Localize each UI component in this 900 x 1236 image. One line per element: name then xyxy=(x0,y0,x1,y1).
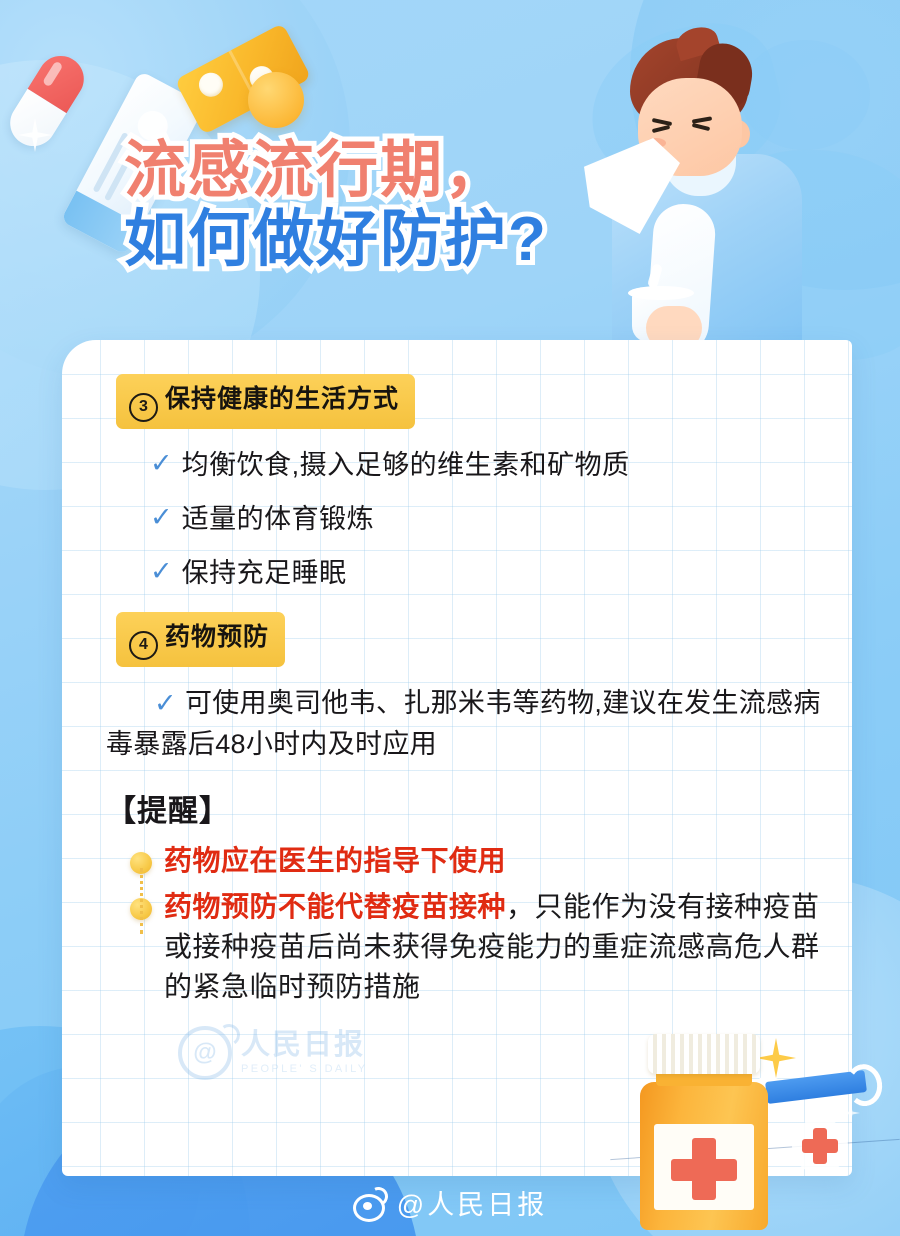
tip-item-text: 药物预防不能代替疫苗接种，只能作为没有接种疫苗或接种疫苗后尚未获得免疫能力的重症… xyxy=(164,888,822,1007)
check-icon: ✓ xyxy=(150,557,173,587)
list-item: ✓ 适量的体育锻炼 xyxy=(150,503,822,537)
orange-circle-decoration xyxy=(248,72,304,128)
poster-canvas: 流感流行期， 如何做好防护? 3保持健康的生活方式 ✓ 均衡饮食,摄入足够的维生… xyxy=(0,0,900,1236)
section-title-3: 保持健康的生活方式 xyxy=(165,385,399,413)
section-4-paragraph-text: 可使用奥司他韦、扎那米韦等药物,建议在发生流感病毒暴露后48小时内及时应用 xyxy=(106,688,821,759)
list-item-label: 均衡饮食,摄入足够的维生素和矿物质 xyxy=(182,449,630,483)
red-cross-badge-icon xyxy=(792,1118,848,1174)
list-item-label: 保持充足睡眠 xyxy=(182,557,347,591)
at-symbol-icon: @ xyxy=(178,1026,232,1080)
list-item: ✓ 保持充足睡眠 xyxy=(150,557,822,591)
tip-item: 药物应在医生的指导下使用 xyxy=(106,842,822,882)
watermark-name-cn: 人民日报 xyxy=(241,1031,368,1060)
weibo-icon xyxy=(353,1188,387,1218)
at-glyph: @ xyxy=(193,1039,216,1067)
tip-item-text: 药物应在医生的指导下使用 xyxy=(164,842,506,882)
title-line-1: 流感流行期， xyxy=(124,136,548,205)
section-heading-4: 4药物预防 xyxy=(116,612,285,667)
tip-list: 药物应在医生的指导下使用 药物预防不能代替疫苗接种，只能作为没有接种疫苗或接种疫… xyxy=(106,842,822,1007)
check-icon: ✓ xyxy=(150,503,173,533)
section-number-3: 3 xyxy=(129,393,158,422)
section-4-paragraph: ✓可使用奥司他韦、扎那米韦等药物,建议在发生流感病毒暴露后48小时内及时应用 xyxy=(106,683,822,764)
list-item: ✓ 均衡饮食,摄入足够的维生素和矿物质 xyxy=(150,449,822,483)
list-item-label: 适量的体育锻炼 xyxy=(182,503,375,537)
tip-connector-line xyxy=(140,868,143,934)
footer-credit: @人民日报 xyxy=(0,1183,900,1222)
tip-emphasis: 药物应在医生的指导下使用 xyxy=(164,846,506,877)
tip-title: 【提醒】 xyxy=(106,786,822,830)
signal-wave-icon xyxy=(216,1022,241,1047)
tip-item: 药物预防不能代替疫苗接种，只能作为没有接种疫苗或接种疫苗后尚未获得免疫能力的重症… xyxy=(106,888,822,1007)
section-number-4: 4 xyxy=(129,631,158,660)
check-icon: ✓ xyxy=(154,688,177,718)
sick-person-illustration xyxy=(572,34,822,354)
poster-title: 流感流行期， 如何做好防护? xyxy=(124,136,548,275)
section-heading-3: 3保持健康的生活方式 xyxy=(116,374,415,429)
title-line-2: 如何做好防护? xyxy=(124,205,548,274)
watermark-name-en: PEOPLE' S DAILY xyxy=(241,1063,368,1075)
footer-handle: @人民日报 xyxy=(397,1183,547,1222)
check-icon: ✓ xyxy=(150,449,173,479)
tip-emphasis: 药物预防不能代替疫苗接种 xyxy=(164,892,506,923)
section-title-4: 药物预防 xyxy=(165,623,269,651)
peoples-daily-watermark: @ 人民日报 PEOPLE' S DAILY xyxy=(178,1026,368,1080)
